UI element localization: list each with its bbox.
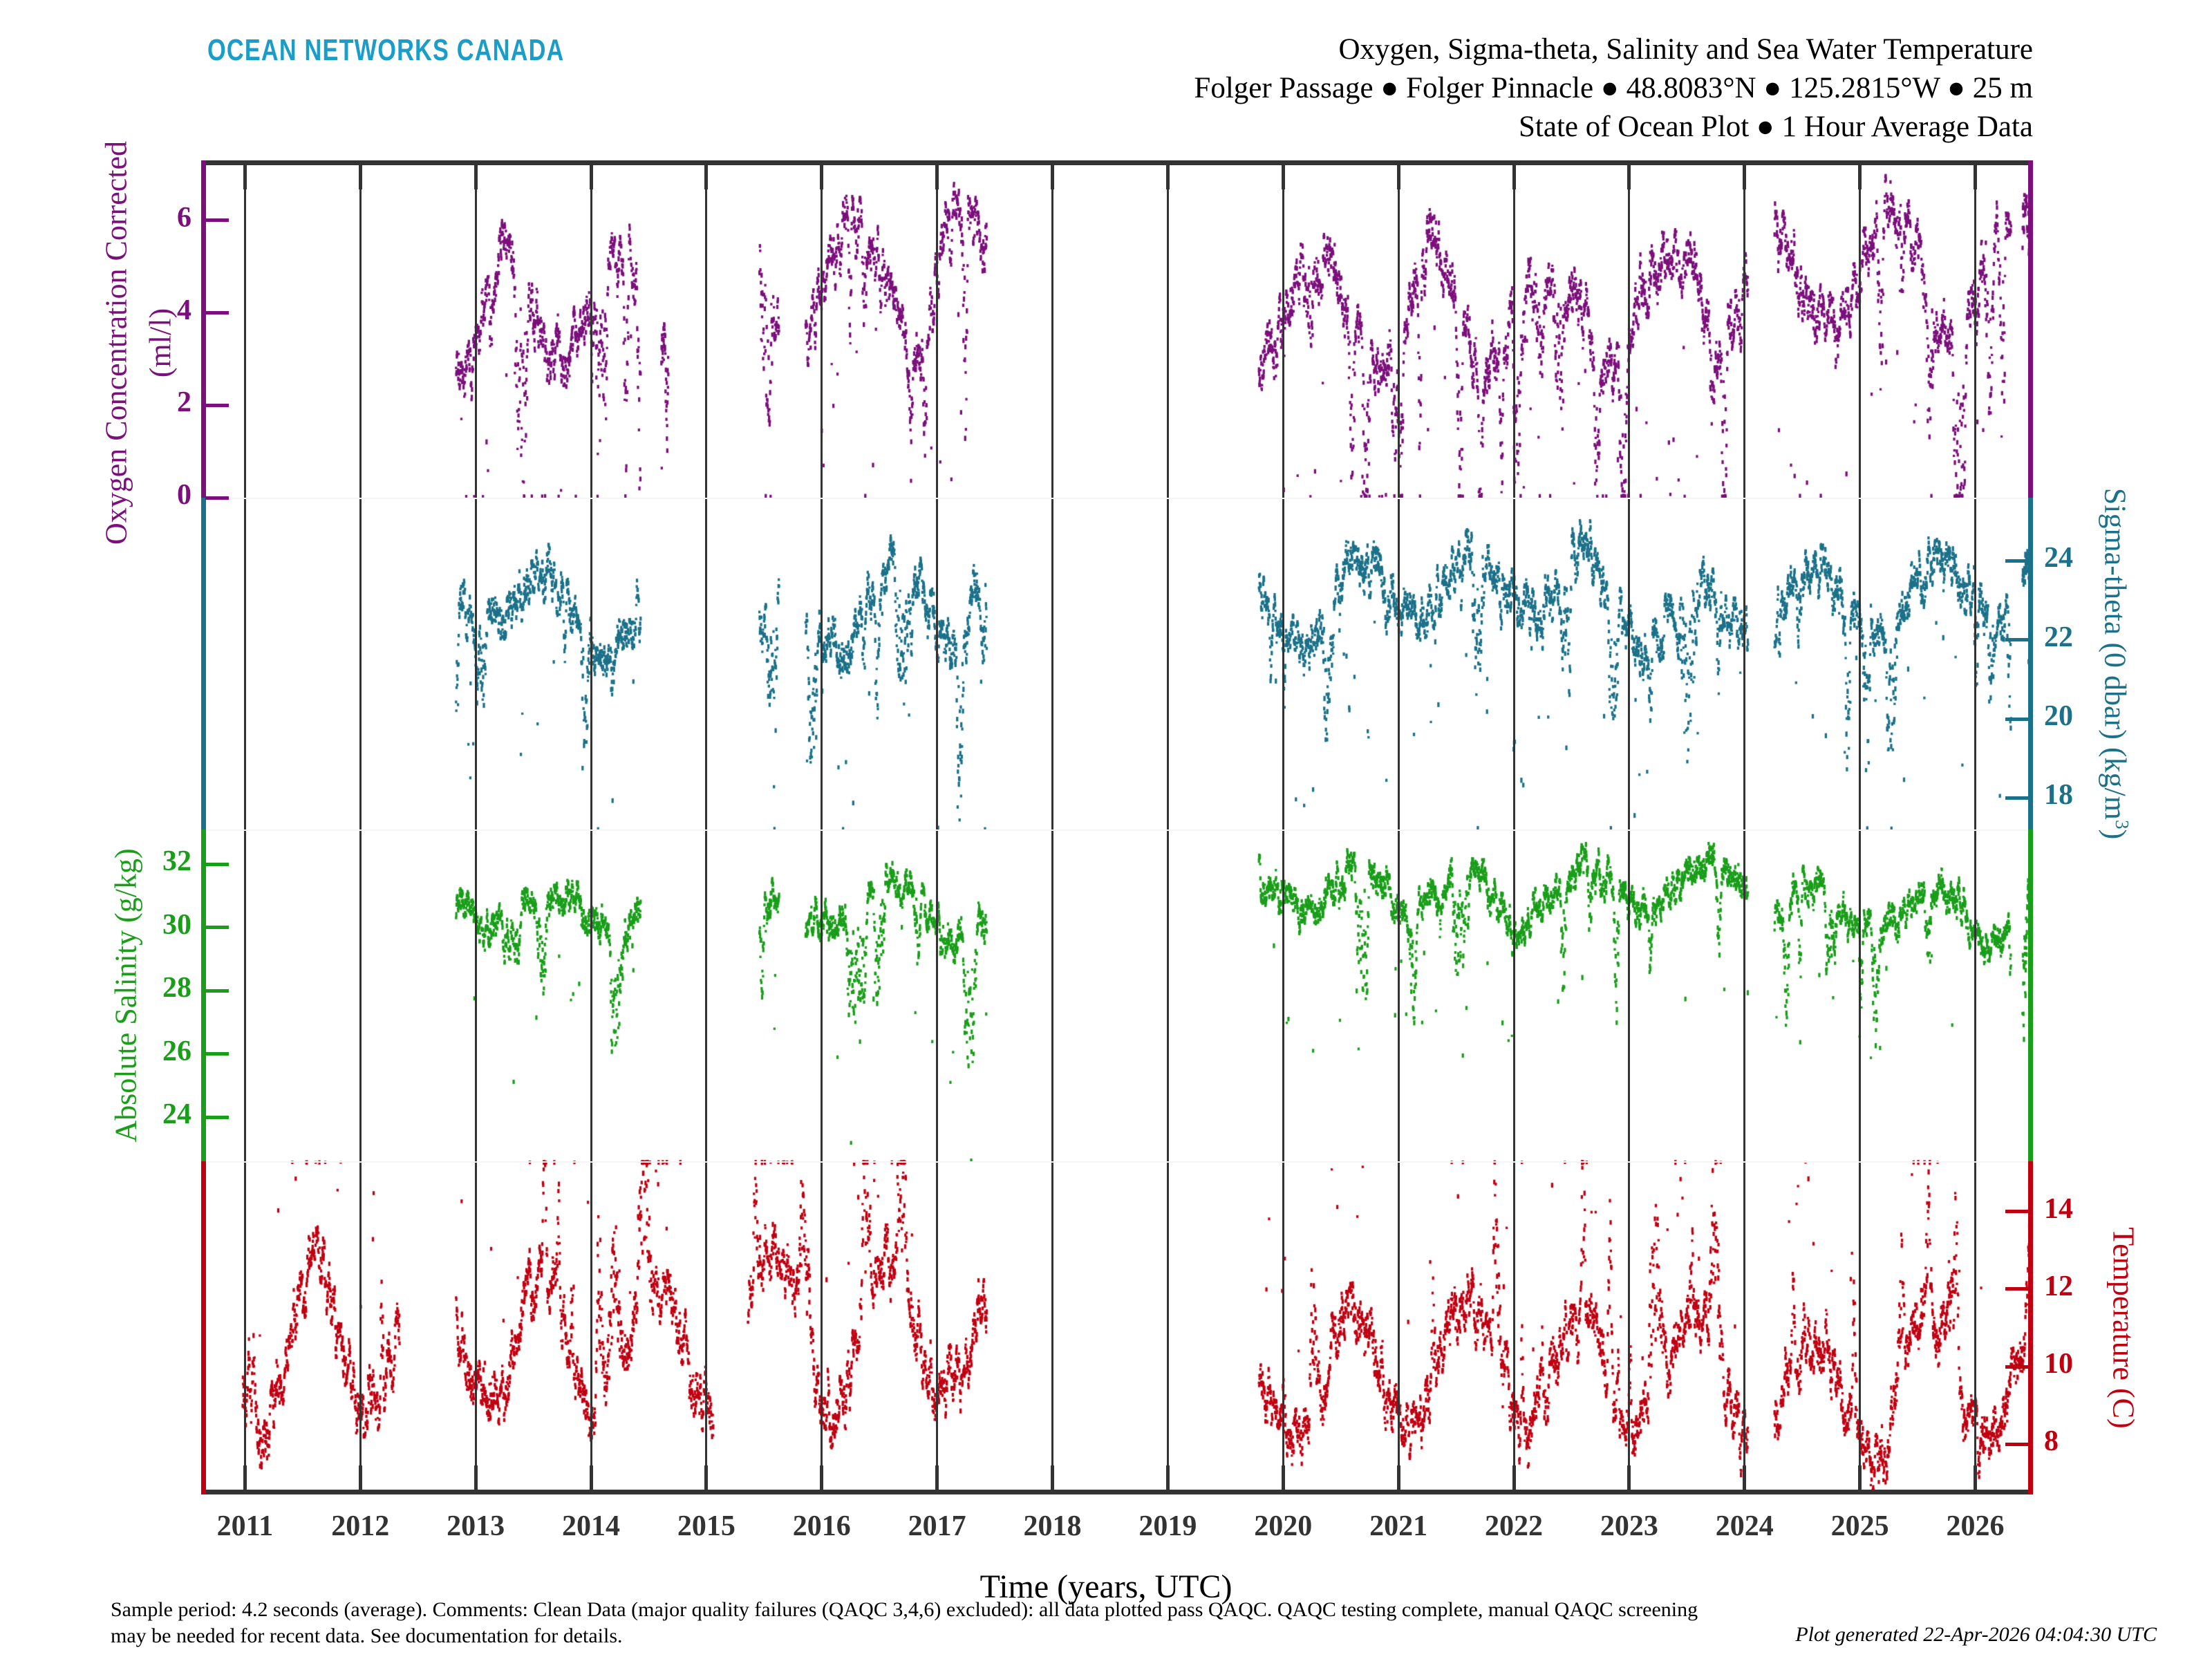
left-spine-right bbox=[201, 498, 206, 829]
left-spine-right bbox=[201, 1161, 206, 1494]
x-tick-bottom bbox=[1858, 1465, 1862, 1494]
title-line-3: State of Ocean Plot ● 1 Hour Average Dat… bbox=[1194, 108, 2033, 147]
x-tick-bottom bbox=[1743, 1465, 1746, 1494]
plot-page: OCEAN NETWORKS CANADA Oxygen, Sigma-thet… bbox=[0, 0, 2212, 1659]
y-tick-salinity bbox=[205, 989, 229, 993]
x-tick-top bbox=[359, 160, 362, 189]
axis-title-oxygen: Oxygen Concentration Corrected bbox=[99, 141, 134, 545]
y-tick-label-sigma_theta: 22 bbox=[2044, 621, 2073, 654]
x-tick-top bbox=[1051, 160, 1054, 189]
x-tick-top bbox=[1627, 160, 1631, 189]
x-tick-top bbox=[1743, 160, 1746, 189]
y-tick-label-salinity: 32 bbox=[162, 845, 191, 878]
x-tick-bottom bbox=[1051, 1465, 1054, 1494]
x-tick-label: 2024 bbox=[1716, 1510, 1774, 1543]
x-tick-label: 2011 bbox=[217, 1510, 274, 1543]
x-tick-bottom bbox=[359, 1465, 362, 1494]
footer-note: Sample period: 4.2 seconds (average). Co… bbox=[111, 1597, 1721, 1650]
x-tick-label: 2022 bbox=[1485, 1510, 1543, 1543]
y-tick-label-salinity: 26 bbox=[162, 1035, 191, 1068]
y-tick-temperature bbox=[2005, 1210, 2029, 1213]
x-tick-bottom bbox=[1397, 1465, 1400, 1494]
x-tick-bottom bbox=[474, 1465, 478, 1494]
x-tick-label: 2026 bbox=[1947, 1510, 2005, 1543]
title-line-1: Oxygen, Sigma-theta, Salinity and Sea Wa… bbox=[1194, 30, 2033, 69]
y-tick-temperature bbox=[2005, 1287, 2029, 1291]
x-tick-bottom bbox=[590, 1465, 593, 1494]
x-tick-top bbox=[1512, 160, 1516, 189]
x-tick-top bbox=[1858, 160, 1862, 189]
y-tick-label-temperature: 10 bbox=[2044, 1347, 2073, 1380]
y-tick-label-sigma_theta: 24 bbox=[2044, 541, 2073, 574]
axis-title-salinity: Absolute Salinity (g/kg) bbox=[109, 848, 144, 1142]
y-tick-oxygen bbox=[205, 311, 229, 315]
y-tick-label-oxygen: 4 bbox=[177, 294, 191, 327]
y-tick-sigma_theta bbox=[2005, 638, 2029, 641]
generated-timestamp: Plot generated 22-Apr-2026 04:04:30 UTC bbox=[1795, 1623, 2157, 1647]
x-tick-bottom bbox=[704, 1465, 708, 1494]
y-tick-temperature bbox=[2005, 1365, 2029, 1369]
y-tick-salinity bbox=[205, 1116, 229, 1119]
x-tick-top bbox=[590, 160, 593, 189]
right-spine-left bbox=[2028, 160, 2033, 498]
axis-title-oxygen-unit: (ml/l) bbox=[143, 308, 178, 377]
x-tick-bottom bbox=[243, 1465, 247, 1494]
y-tick-label-salinity: 30 bbox=[162, 908, 191, 941]
y-tick-temperature bbox=[2005, 1443, 2029, 1446]
x-tick-label: 2019 bbox=[1138, 1510, 1197, 1543]
x-tick-bottom bbox=[1166, 1465, 1170, 1494]
x-tick-label: 2023 bbox=[1600, 1510, 1658, 1543]
right-spine-right bbox=[2028, 498, 2033, 829]
x-tick-bottom bbox=[1282, 1465, 1285, 1494]
x-tick-label: 2021 bbox=[1369, 1510, 1427, 1543]
right-spine-right bbox=[2028, 1161, 2033, 1494]
x-tick-label: 2012 bbox=[331, 1510, 389, 1543]
title-block: Oxygen, Sigma-theta, Salinity and Sea Wa… bbox=[1194, 30, 2033, 147]
x-tick-bottom bbox=[820, 1465, 823, 1494]
y-tick-oxygen bbox=[205, 404, 229, 407]
y-tick-label-sigma_theta: 18 bbox=[2044, 778, 2073, 812]
left-spine-left bbox=[201, 829, 206, 1161]
x-tick-top bbox=[243, 160, 247, 189]
ocean-networks-canada-logo: OCEAN NETWORKS CANADA bbox=[207, 33, 564, 68]
x-tick-label: 2025 bbox=[1831, 1510, 1889, 1543]
x-tick-top bbox=[1974, 160, 1977, 189]
x-tick-label: 2015 bbox=[677, 1510, 735, 1543]
x-tick-top bbox=[474, 160, 478, 189]
axis-title-temperature: Temperature (C) bbox=[2106, 1227, 2141, 1428]
x-tick-label: 2014 bbox=[562, 1510, 620, 1543]
x-tick-label: 2020 bbox=[1254, 1510, 1312, 1543]
x-tick-top bbox=[1282, 160, 1285, 189]
left-spine-left bbox=[201, 160, 206, 498]
y-tick-label-temperature: 12 bbox=[2044, 1270, 2073, 1303]
x-tick-label: 2013 bbox=[447, 1510, 505, 1543]
x-tick-top bbox=[1397, 160, 1400, 189]
y-tick-label-temperature: 8 bbox=[2044, 1425, 2059, 1458]
y-tick-oxygen bbox=[205, 496, 229, 500]
y-tick-label-temperature: 14 bbox=[2044, 1192, 2073, 1226]
x-tick-label: 2017 bbox=[908, 1510, 966, 1543]
x-tick-label: 2016 bbox=[793, 1510, 851, 1543]
y-tick-salinity bbox=[205, 926, 229, 929]
y-tick-label-oxygen: 6 bbox=[177, 201, 191, 234]
y-tick-salinity bbox=[205, 1052, 229, 1056]
right-spine-left bbox=[2028, 829, 2033, 1161]
x-tick-top bbox=[935, 160, 939, 189]
x-tick-label: 2018 bbox=[1024, 1510, 1082, 1543]
y-tick-sigma_theta bbox=[2005, 796, 2029, 800]
y-tick-label-oxygen: 0 bbox=[177, 478, 191, 512]
y-tick-sigma_theta bbox=[2005, 559, 2029, 563]
y-tick-label-salinity: 28 bbox=[162, 971, 191, 1004]
x-tick-bottom bbox=[1974, 1465, 1977, 1494]
y-tick-label-oxygen: 2 bbox=[177, 386, 191, 419]
x-tick-top bbox=[820, 160, 823, 189]
y-tick-salinity bbox=[205, 863, 229, 866]
x-tick-top bbox=[1166, 160, 1170, 189]
x-tick-bottom bbox=[935, 1465, 939, 1494]
x-tick-top bbox=[704, 160, 708, 189]
axis-title-sigma-theta: Sigma-theta (0 dbar) (kg/m3) bbox=[2098, 488, 2133, 840]
y-tick-sigma_theta bbox=[2005, 718, 2029, 721]
y-tick-label-sigma_theta: 20 bbox=[2044, 700, 2073, 733]
y-tick-label-salinity: 24 bbox=[162, 1098, 191, 1131]
title-line-2: Folger Passage ● Folger Pinnacle ● 48.80… bbox=[1194, 69, 2033, 108]
plot-frame bbox=[201, 160, 2033, 1494]
x-tick-bottom bbox=[1627, 1465, 1631, 1494]
x-tick-bottom bbox=[1512, 1465, 1516, 1494]
y-tick-oxygen bbox=[205, 218, 229, 222]
